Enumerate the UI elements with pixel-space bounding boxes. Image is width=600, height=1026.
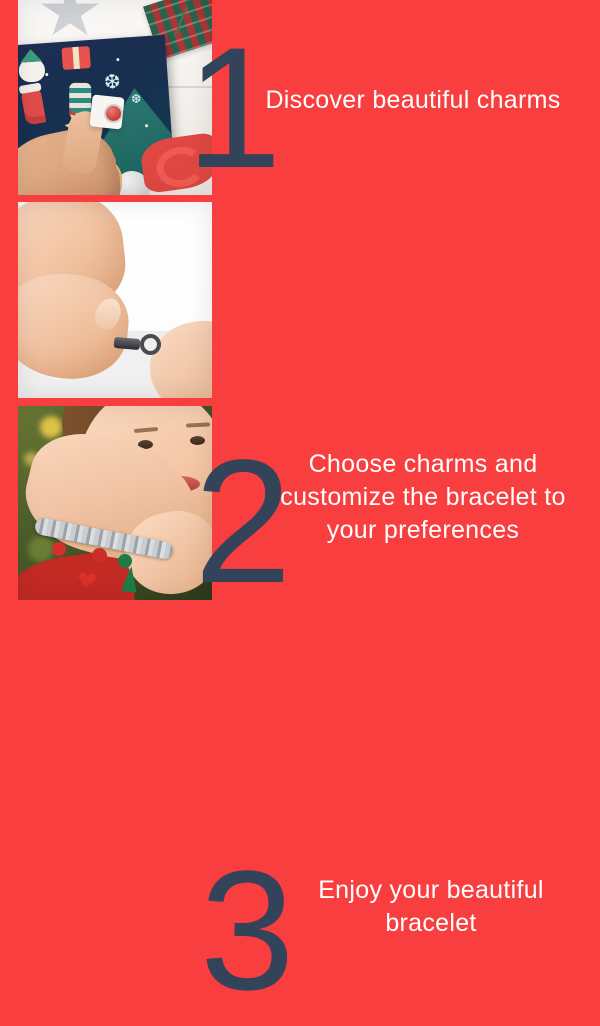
advent-calendar-photo: ❆ ❆ ❆ ❆ [18, 0, 212, 195]
snow-dot [116, 58, 119, 61]
calendar-gift-art [61, 46, 90, 70]
calendar-elf-art [18, 57, 46, 83]
bracelet-charm [92, 548, 107, 563]
charm-bead [106, 106, 121, 121]
step-number-3: 3 [200, 846, 293, 1016]
step-caption-1: Discover beautiful charms [240, 84, 586, 117]
steps-infographic: ❆ ❆ ❆ ❆ 1 Discover beautiful charms [0, 0, 600, 600]
snow-dot [45, 73, 48, 76]
step-row-3: 3 Enjoy your beautiful bracelet [0, 406, 600, 600]
clasp-closeup-photo [18, 202, 212, 398]
bracelet-clasp [114, 337, 141, 350]
calendar-stocking-art [21, 89, 47, 126]
step-number-1: 1 [186, 22, 280, 194]
bokeh-light [40, 416, 62, 438]
bracelet-charm [118, 554, 132, 568]
step-row-2: 2 Choose charms and customize the bracel… [0, 202, 600, 398]
bokeh-light [28, 536, 54, 562]
girl-wearing-bracelet-photo [18, 406, 212, 600]
step-number-2: 2 [194, 434, 290, 610]
step-caption-3: Enjoy your beautiful bracelet [280, 874, 582, 940]
snowflake-icon: ❆ [131, 93, 142, 106]
step-row-1: ❆ ❆ ❆ ❆ 1 Discover beautiful charms [0, 0, 600, 195]
snowflake-icon: ❆ [103, 72, 121, 93]
